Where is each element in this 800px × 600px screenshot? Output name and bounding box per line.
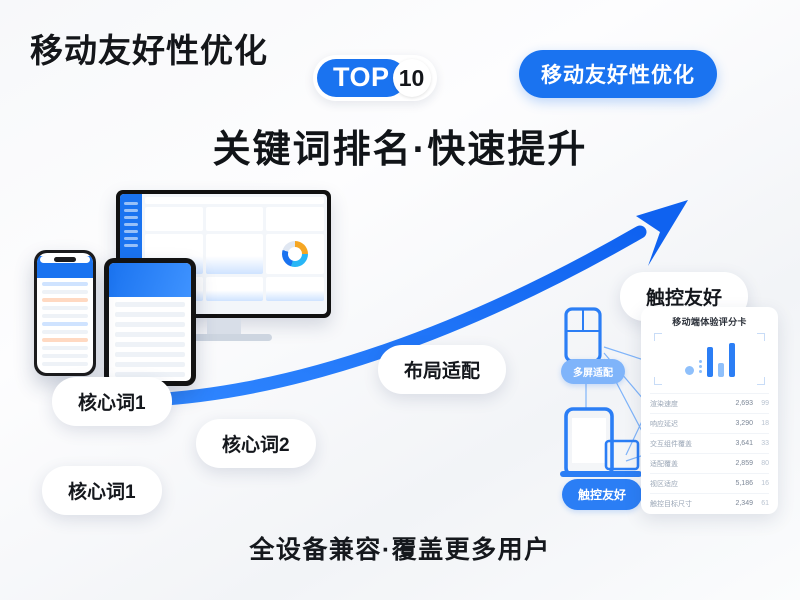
keyword-pill-2: 核心词2 bbox=[196, 419, 316, 468]
score-row-value: 3,290 bbox=[727, 420, 753, 427]
page-kicker: 移动友好性优化 bbox=[30, 24, 268, 72]
score-row-delta: 80 bbox=[753, 460, 769, 467]
header-tag-pill: 移动友好性优化 bbox=[519, 50, 717, 98]
score-row-value: 2,693 bbox=[727, 400, 753, 407]
mobile-score-card: 移动端体验评分卡 渲染速度2,69399响应延迟3,29018交互组件覆盖3,6… bbox=[641, 307, 778, 514]
top-badge-number: 10 bbox=[393, 59, 431, 97]
phone-notch bbox=[54, 257, 76, 262]
score-card-row: 触控目标尺寸2,34961 bbox=[650, 493, 769, 513]
score-row-delta: 99 bbox=[753, 400, 769, 407]
poster-canvas: 移动友好性优化 TOP 10 移动友好性优化 关键词排名·快速提升 bbox=[0, 0, 800, 600]
score-row-value: 2,349 bbox=[727, 500, 753, 507]
donut-chart-icon bbox=[282, 241, 308, 267]
tablet-mockup bbox=[104, 258, 196, 386]
score-row-delta: 61 bbox=[753, 500, 769, 507]
phone-mockup bbox=[34, 250, 96, 376]
score-row-delta: 33 bbox=[753, 440, 769, 447]
score-row-name: 触控目标尺寸 bbox=[650, 499, 727, 509]
device-diagram: 多屏适配 触控友好 移动端体验评分卡 渲染速度2,69399响应延迟3,2901… bbox=[548, 305, 778, 520]
score-row-name: 交互组件覆盖 bbox=[650, 439, 727, 449]
score-row-delta: 18 bbox=[753, 420, 769, 427]
score-row-value: 3,641 bbox=[727, 440, 753, 447]
score-row-value: 2,859 bbox=[727, 460, 753, 467]
score-card-row: 渲染速度2,69399 bbox=[650, 393, 769, 413]
score-row-name: 适配覆盖 bbox=[650, 459, 727, 469]
bulb-icon bbox=[685, 366, 694, 375]
score-card-illustration bbox=[654, 333, 765, 385]
score-card-row: 视区适应5,18616 bbox=[650, 473, 769, 493]
score-card-row: 交互组件覆盖3,64133 bbox=[650, 433, 769, 453]
score-row-name: 响应延迟 bbox=[650, 419, 727, 429]
top-rank-badge: TOP 10 bbox=[313, 55, 437, 101]
monitor-neck bbox=[207, 318, 241, 334]
score-card-title: 移动端体验评分卡 bbox=[650, 315, 769, 328]
page-title: 关键词排名·快速提升 bbox=[0, 118, 800, 173]
score-card-row: 适配覆盖2,85980 bbox=[650, 453, 769, 473]
score-card-rows: 渲染速度2,69399响应延迟3,29018交互组件覆盖3,64133适配覆盖2… bbox=[650, 393, 769, 513]
diagram-pill-multiscreen: 多屏适配 bbox=[561, 359, 625, 384]
keyword-pill-1: 核心词1 bbox=[52, 377, 172, 426]
score-row-value: 5,186 bbox=[727, 480, 753, 487]
feature-pill-layout: 布局适配 bbox=[378, 345, 506, 394]
keyword-pill-3: 核心词1 bbox=[42, 466, 162, 515]
score-card-row: 响应延迟3,29018 bbox=[650, 413, 769, 433]
score-row-name: 渲染速度 bbox=[650, 399, 727, 409]
score-row-delta: 16 bbox=[753, 480, 769, 487]
diagram-pill-touch: 触控友好 bbox=[562, 479, 642, 510]
score-row-name: 视区适应 bbox=[650, 479, 727, 489]
footer-tagline: 全设备兼容·覆盖更多用户 bbox=[0, 530, 800, 566]
device-mockup-group bbox=[26, 190, 356, 390]
